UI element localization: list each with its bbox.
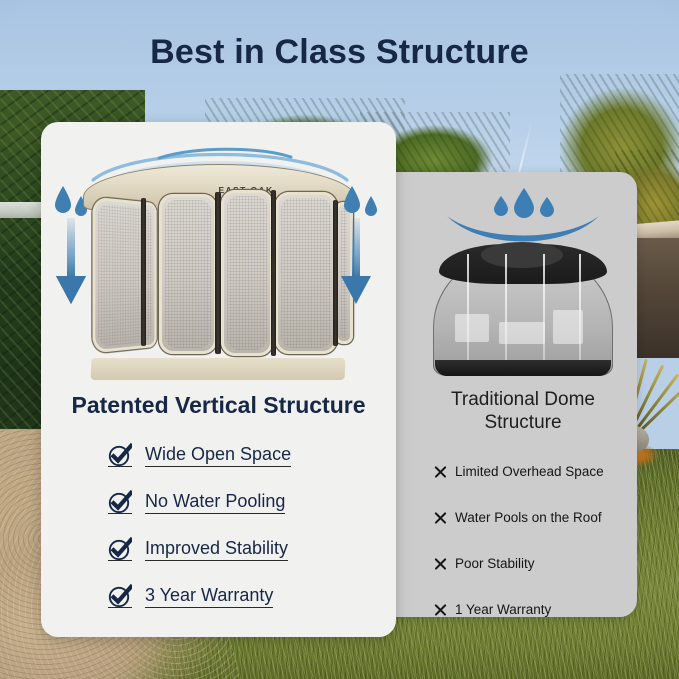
check-circle-icon xyxy=(108,537,132,561)
traditional-heading-line-2: Structure xyxy=(409,411,637,434)
tent-post xyxy=(333,200,338,346)
drawback-label: Limited Overhead Space xyxy=(455,464,604,479)
list-item: Limited Overhead Space xyxy=(433,461,643,482)
mesh-panel xyxy=(275,192,337,354)
x-mark-icon xyxy=(433,602,448,617)
drawback-label: 1 Year Warranty xyxy=(455,602,551,617)
dome-base xyxy=(435,360,611,376)
water-runoff-arrow-right-icon xyxy=(339,180,385,308)
water-droplets-icon xyxy=(491,188,557,222)
check-circle-icon xyxy=(108,584,132,608)
feature-label: Improved Stability xyxy=(145,538,288,561)
patented-feature-list: Wide Open Space No Water Pooling Improve… xyxy=(108,440,388,628)
check-circle-icon xyxy=(108,443,132,467)
dome-interior-furniture xyxy=(553,310,583,344)
dome-tent-graphic xyxy=(433,240,613,376)
dome-rib xyxy=(467,254,469,372)
tent-post xyxy=(215,192,221,354)
page-title: Best in Class Structure xyxy=(0,33,679,72)
x-mark-icon xyxy=(433,464,448,479)
list-item: 3 Year Warranty xyxy=(108,581,388,611)
patented-card-heading: Patented Vertical Structure xyxy=(41,392,396,419)
feature-label: 3 Year Warranty xyxy=(145,585,273,608)
list-item: 1 Year Warranty xyxy=(433,599,643,620)
mesh-panel xyxy=(221,190,273,356)
drawback-label: Poor Stability xyxy=(455,556,535,571)
traditional-card-content: Traditional Dome Structure Limited Overh… xyxy=(409,172,637,617)
list-item: Wide Open Space xyxy=(108,440,388,470)
traditional-heading-line-1: Traditional Dome xyxy=(409,388,637,411)
list-item: No Water Pooling xyxy=(108,487,388,517)
mesh-screen xyxy=(281,198,331,348)
dome-roof-sag xyxy=(481,242,563,268)
list-item: Water Pools on the Roof xyxy=(433,507,643,528)
tent-floor-skirt xyxy=(91,358,346,380)
mesh-screen xyxy=(227,196,267,350)
feature-label: Wide Open Space xyxy=(145,444,291,467)
tent-post xyxy=(271,190,276,356)
tent-body xyxy=(85,190,353,362)
mesh-screen xyxy=(165,200,211,348)
traditional-card-heading: Traditional Dome Structure xyxy=(409,388,637,434)
patented-tent-illustration: EAST OAK xyxy=(51,144,386,384)
dome-rib xyxy=(505,254,507,372)
vertical-canopy-tent-graphic: EAST OAK xyxy=(83,164,355,376)
dome-interior-furniture xyxy=(499,322,545,344)
x-mark-icon xyxy=(433,556,448,571)
dome-interior-furniture xyxy=(455,314,489,342)
dome-rib xyxy=(543,254,545,372)
list-item: Poor Stability xyxy=(433,553,643,574)
drawback-label: Water Pools on the Roof xyxy=(455,510,602,525)
list-item: Improved Stability xyxy=(108,534,388,564)
x-mark-icon xyxy=(433,510,448,525)
tent-post xyxy=(141,198,146,346)
mesh-panel xyxy=(92,197,156,354)
feature-label: No Water Pooling xyxy=(145,491,285,514)
patented-structure-card: EAST OAK xyxy=(41,122,396,637)
mesh-panel xyxy=(159,194,217,354)
traditional-dome-illustration xyxy=(417,188,627,383)
traditional-drawback-list: Limited Overhead Space Water Pools on th… xyxy=(433,461,643,645)
check-circle-icon xyxy=(108,490,132,514)
